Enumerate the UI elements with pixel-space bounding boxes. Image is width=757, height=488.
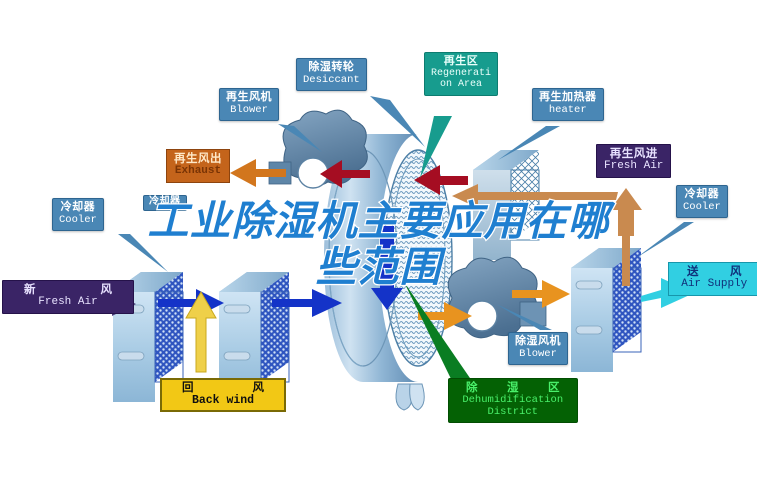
label-regen-fresh-air-in[interactable]: 再生风进 Fresh Air [596,144,671,178]
label-exhaust[interactable]: 再生风出 Exhaust [166,149,230,183]
label-desiccant-wheel-cn: 除湿转轮 [303,62,360,74]
label-dehumidification-blower-cn: 除湿风机 [515,336,561,348]
label-desiccant-wheel[interactable]: 除湿转轮 Desiccant [296,58,367,91]
label-fresh-air-in[interactable]: 新 风 Fresh Air [2,280,134,314]
label-dehumidification-blower[interactable]: 除湿风机 Blower [508,332,568,365]
label-regeneration-blower[interactable]: 再生风机 Blower [219,88,279,121]
label-dehumidification-district[interactable]: 除 湿 区 Dehumidification District [448,378,578,423]
label-cooler-mid-cn: 冷却器 [149,197,181,208]
label-air-supply[interactable]: 送 风 Air Supply [668,262,757,296]
diagram-canvas: 除湿转轮 Desiccant 再生风机 Blower 再生区 Regenerat… [0,0,757,488]
label-regeneration-area-en1: Regenerati [431,69,491,80]
label-regeneration-area-en2: on Area [431,80,491,91]
label-cooler-left[interactable]: 冷却器 Cooler [52,198,104,231]
label-air-supply-cn: 送 风 [677,266,752,278]
label-regeneration-blower-en: Blower [226,105,272,116]
label-cooler-right[interactable]: 冷却器 Cooler [676,185,728,218]
label-back-wind-en: Back wind [170,395,276,407]
label-regeneration-heater-en: heater [539,105,597,116]
label-desiccant-wheel-en: Desiccant [303,75,360,86]
label-air-supply-en: Air Supply [677,279,752,291]
label-cooler-left-en: Cooler [59,215,97,226]
label-regeneration-blower-cn: 再生风机 [226,92,272,104]
label-fresh-air-in-en: Fresh Air [10,297,126,309]
label-back-wind[interactable]: 回 风 Back wind [160,378,286,412]
label-fresh-air-in-cn: 新 风 [10,284,126,296]
label-regen-fresh-air-in-en: Fresh Air [604,161,663,173]
label-exhaust-en: Exhaust [174,166,222,178]
label-regen-fresh-air-in-cn: 再生风进 [604,148,663,160]
label-exhaust-cn: 再生风出 [174,153,222,165]
label-dehumidification-district-cn: 除 湿 区 [457,382,569,394]
label-regeneration-heater-cn: 再生加热器 [539,92,597,104]
label-back-wind-cn: 回 风 [170,382,276,394]
label-regeneration-area-cn: 再生区 [431,56,491,68]
label-dehumidification-district-en2: District [457,407,569,418]
label-cooler-right-cn: 冷却器 [683,189,721,201]
label-regeneration-area[interactable]: 再生区 Regenerati on Area [424,52,498,96]
label-cooler-right-en: Cooler [683,202,721,213]
label-cooler-mid[interactable]: 冷却器 [143,195,187,211]
label-dehumidification-district-en1: Dehumidification [457,395,569,406]
label-regeneration-heater[interactable]: 再生加热器 heater [532,88,604,121]
label-dehumidification-blower-en: Blower [515,349,561,360]
callout-leader-lines [0,0,757,488]
label-cooler-left-cn: 冷却器 [59,202,97,214]
